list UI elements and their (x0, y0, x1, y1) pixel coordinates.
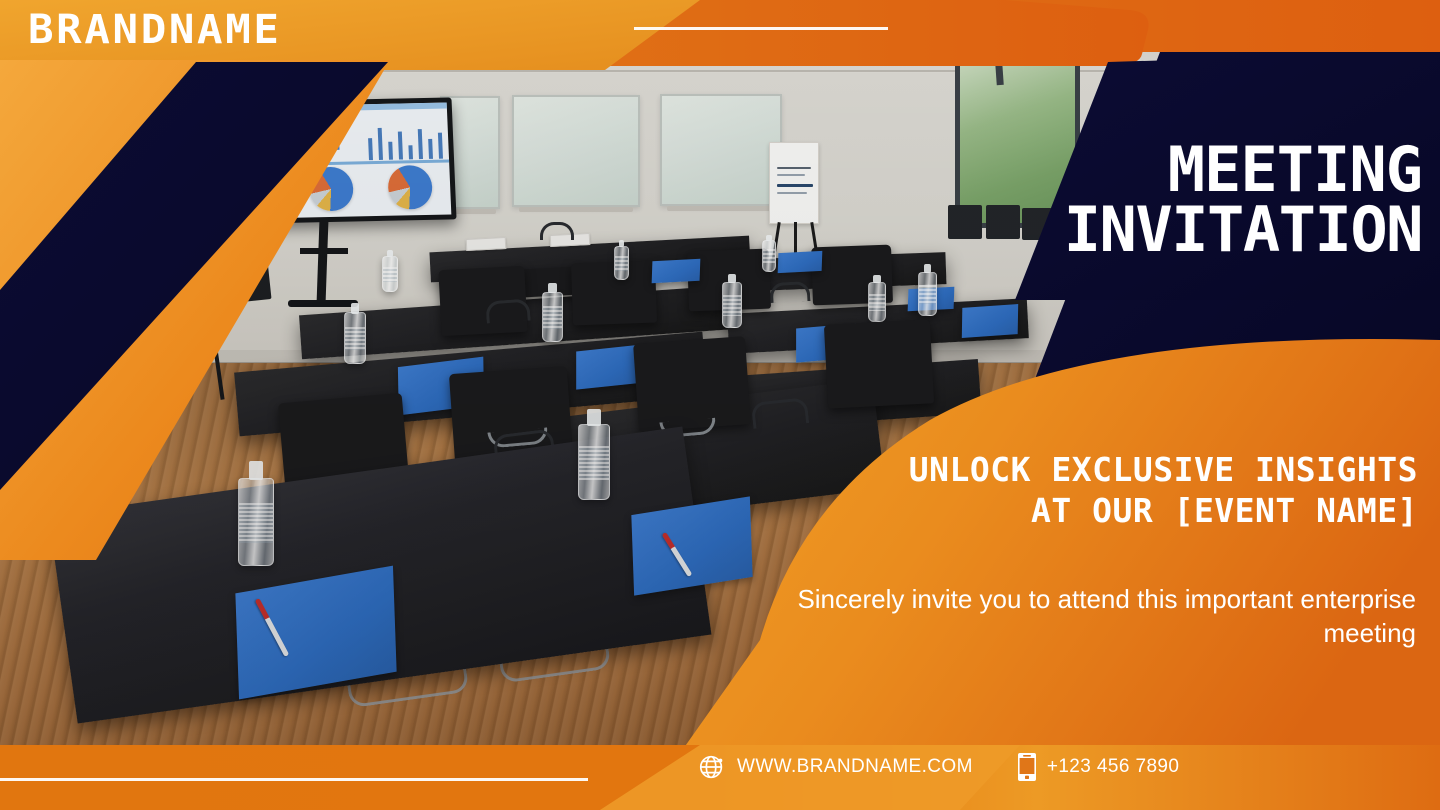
graphic-overlay (0, 0, 1440, 810)
headline-line-1: UNLOCK EXCLUSIVE INSIGHTS (909, 450, 1418, 489)
smartphone-icon (1017, 752, 1037, 782)
phone-text: +123 456 7890 (1047, 756, 1180, 778)
brand-logo: BRANDNAME (28, 10, 282, 50)
subtext-line-2: enterprise meeting (1300, 584, 1416, 648)
website-text: WWW.BRANDNAME.COM (737, 756, 973, 778)
headline-line-2: AT OUR [EVENT NAME] (858, 491, 1418, 532)
headline: UNLOCK EXCLUSIVE INSIGHTS AT OUR [EVENT … (858, 450, 1418, 532)
subtext: Sincerely invite you to attend this impo… (796, 582, 1416, 651)
website-contact[interactable]: WWW.BRANDNAME.COM (697, 752, 973, 782)
footer-contact: WWW.BRANDNAME.COM +123 456 7890 (697, 752, 1179, 782)
meeting-invitation-poster: BRANDNAME MEETING INVITATION UNLOCK EXCL… (0, 0, 1440, 810)
page-title: MEETING INVITATION (952, 140, 1422, 259)
phone-contact[interactable]: +123 456 7890 (1017, 752, 1180, 782)
title-line-2: INVITATION (952, 200, 1422, 260)
globe-icon (697, 752, 727, 782)
subtext-line-1: Sincerely invite you to attend this impo… (797, 584, 1293, 614)
